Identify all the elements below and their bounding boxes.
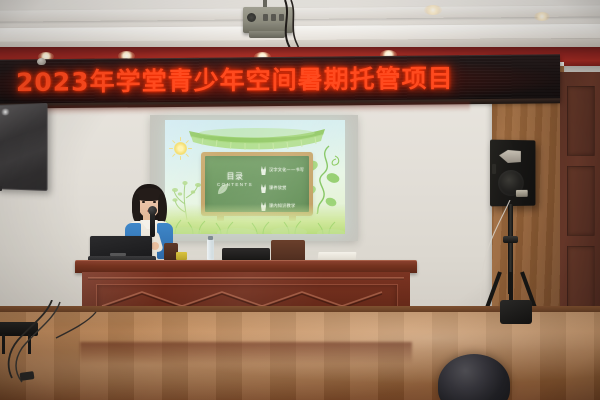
wall-mounted-display[interactable] bbox=[0, 103, 48, 191]
led-banner-text: 2023年学堂青少年空间暑期托管项目 bbox=[16, 66, 454, 95]
downlight-6 bbox=[534, 12, 550, 21]
chair-right bbox=[271, 240, 305, 262]
slide-item-label: 课件欣赏 bbox=[269, 186, 287, 191]
led-scrolling-banner: 2023年学堂青少年空间暑期托管项目 bbox=[0, 54, 560, 105]
presenter-hair-left bbox=[132, 194, 140, 222]
floor-cables bbox=[0, 300, 240, 400]
bunny-bullet-icon bbox=[261, 166, 266, 175]
dark-bag-on-floor bbox=[500, 300, 532, 324]
list-item: 汉字文化——书写 bbox=[261, 166, 309, 175]
list-item: 课件欣赏 bbox=[261, 184, 309, 193]
classroom-photo-scene: 2023年学堂青少年空间暑期托管项目 bbox=[0, 0, 600, 400]
wooden-door[interactable] bbox=[560, 72, 600, 316]
door-panel-middle bbox=[567, 166, 595, 236]
slide-item-label: 汉字文化——书写 bbox=[269, 168, 304, 173]
presenter-hand bbox=[151, 242, 159, 250]
speaker-horn-icon bbox=[499, 150, 521, 163]
water-bottle bbox=[207, 239, 214, 260]
projection-screen: 目录 CONTENTS 汉字文化——书写 课件欣赏 课内知识教学 bbox=[165, 120, 345, 234]
grass-tufts-icon bbox=[165, 208, 345, 234]
door-panel-bottom bbox=[567, 246, 595, 310]
speaker-brand-badge bbox=[516, 190, 528, 197]
tv-screen-sheen bbox=[0, 104, 47, 190]
microphone-head-icon bbox=[148, 206, 157, 215]
laptop[interactable] bbox=[90, 236, 152, 258]
podium-rail-moulding bbox=[88, 277, 404, 280]
pa-speaker bbox=[490, 140, 535, 207]
slide-heading-block: 目录 CONTENTS bbox=[215, 173, 255, 188]
speaker-side-handle bbox=[492, 164, 496, 174]
yellow-object bbox=[176, 252, 187, 260]
downlight-5 bbox=[424, 5, 442, 15]
bottle-cap bbox=[208, 236, 213, 240]
projector-knob-2 bbox=[271, 14, 276, 21]
bunny-bullet-icon bbox=[261, 184, 266, 193]
projector-knob-1 bbox=[263, 14, 268, 21]
presenter-hair-right bbox=[158, 194, 167, 224]
projector-lens-icon bbox=[247, 13, 256, 22]
tv-mount-bracket bbox=[0, 186, 2, 191]
security-camera-dome-icon bbox=[37, 58, 46, 65]
door-panel-top bbox=[567, 86, 595, 156]
leaf-icon bbox=[217, 183, 229, 195]
slide-heading-cn: 目录 bbox=[215, 173, 255, 181]
